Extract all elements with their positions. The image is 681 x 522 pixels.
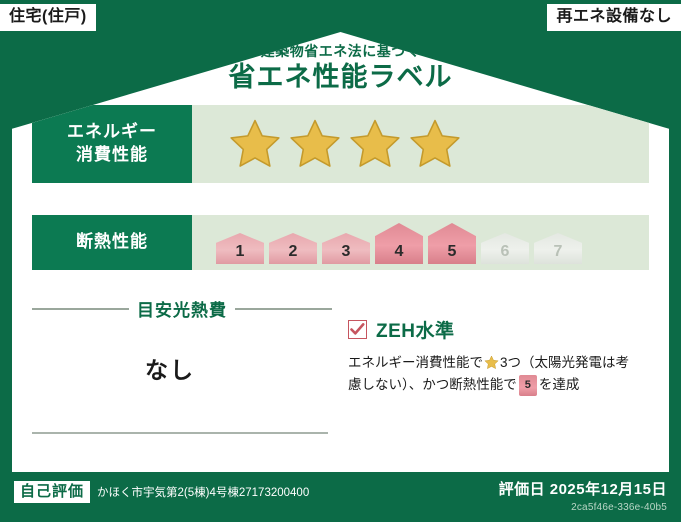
property-address: かほく市宇気第2(5棟)4号棟27173200400 — [97, 484, 309, 500]
insulation-level-badge: 1 — [216, 233, 264, 264]
insulation-level-badge: 6 — [481, 233, 529, 264]
page-title: 省エネ性能ラベル — [12, 61, 669, 95]
utility-cost-heading: 目安光熱費 — [32, 296, 348, 321]
zeh-block: ZEH水準 エネルギー消費性能で3つ（太陽光発電は考慮しない）、かつ断熱性能で5… — [348, 282, 669, 472]
star-icon — [288, 117, 342, 171]
zeh-label: ZEH水準 — [376, 316, 455, 343]
footer: 自己評価 かほく市宇気第2(5棟)4号棟27173200400 評価日 2025… — [0, 472, 681, 522]
energy-label-line2: 消費性能 — [76, 144, 148, 167]
document-id: 2ca5f46e-336e-40b5 — [499, 502, 667, 513]
insulation-level-badge: 7 — [534, 233, 582, 264]
utility-cost-title: 目安光熱費 — [137, 296, 227, 321]
footer-left: 自己評価 かほく市宇気第2(5棟)4号棟27173200400 — [14, 481, 309, 503]
insulation-level-badge: 5 — [428, 223, 476, 264]
star-rating — [192, 105, 649, 183]
utility-cost-value: なし — [32, 351, 348, 385]
star-icon — [348, 117, 402, 171]
star-icon — [408, 117, 462, 171]
zeh-desc-part1: エネルギー消費性能で — [348, 355, 483, 370]
star-icon — [484, 355, 499, 370]
insulation-label-text: 断熱性能 — [76, 231, 148, 254]
renewable-energy-tag: 再エネ設備なし — [547, 4, 681, 31]
evaluation-date: 評価日 2025年12月15日 — [499, 478, 667, 499]
title-block: 建築物省エネ法に基づく 省エネ性能ラベル — [12, 44, 669, 95]
insulation-badge-scale: 1234567 — [192, 215, 649, 270]
zeh-desc-part3: を達成 — [539, 377, 580, 392]
check-icon — [350, 322, 365, 337]
insulation-performance-row: 断熱性能 1234567 — [32, 215, 649, 270]
energy-performance-label: エネルギー 消費性能 — [32, 105, 192, 183]
lower-section: 目安光熱費 なし ZEH水準 エネルギー消費性能で3つ（太陽光発電は考慮しな — [12, 282, 669, 472]
insulation-level-badge: 4 — [375, 223, 423, 264]
utility-cost-divider — [32, 432, 328, 434]
energy-performance-row: エネルギー 消費性能 — [32, 105, 649, 183]
energy-label-card: 住宅(住戸) 再エネ設備なし 建築物省エネ法に基づく 省エネ性能ラベル エネルギ… — [0, 0, 681, 522]
zeh-checkbox[interactable] — [348, 320, 367, 339]
heading-rule-right — [235, 308, 332, 310]
self-evaluation-badge: 自己評価 — [14, 481, 90, 503]
insulation-performance-label: 断熱性能 — [32, 215, 192, 270]
insulation-level-badge: 2 — [269, 233, 317, 264]
heading-rule-left — [32, 308, 129, 310]
footer-right: 評価日 2025年12月15日 2ca5f46e-336e-40b5 — [499, 478, 667, 513]
star-icon — [228, 117, 282, 171]
utility-cost-block: 目安光熱費 なし — [12, 282, 348, 472]
zeh-desc-level-badge: 5 — [519, 375, 537, 396]
building-type-tag: 住宅(住戸) — [0, 4, 96, 31]
zeh-heading: ZEH水準 — [348, 316, 669, 343]
title-subtitle: 建築物省エネ法に基づく — [12, 44, 669, 59]
energy-label-line1: エネルギー — [67, 121, 157, 144]
label-body: 建築物省エネ法に基づく 省エネ性能ラベル エネルギー 消費性能 断熱性能 123… — [12, 32, 669, 472]
zeh-description: エネルギー消費性能で3つ（太陽光発電は考慮しない）、かつ断熱性能で5を達成 — [348, 352, 638, 397]
insulation-level-badge: 3 — [322, 233, 370, 264]
